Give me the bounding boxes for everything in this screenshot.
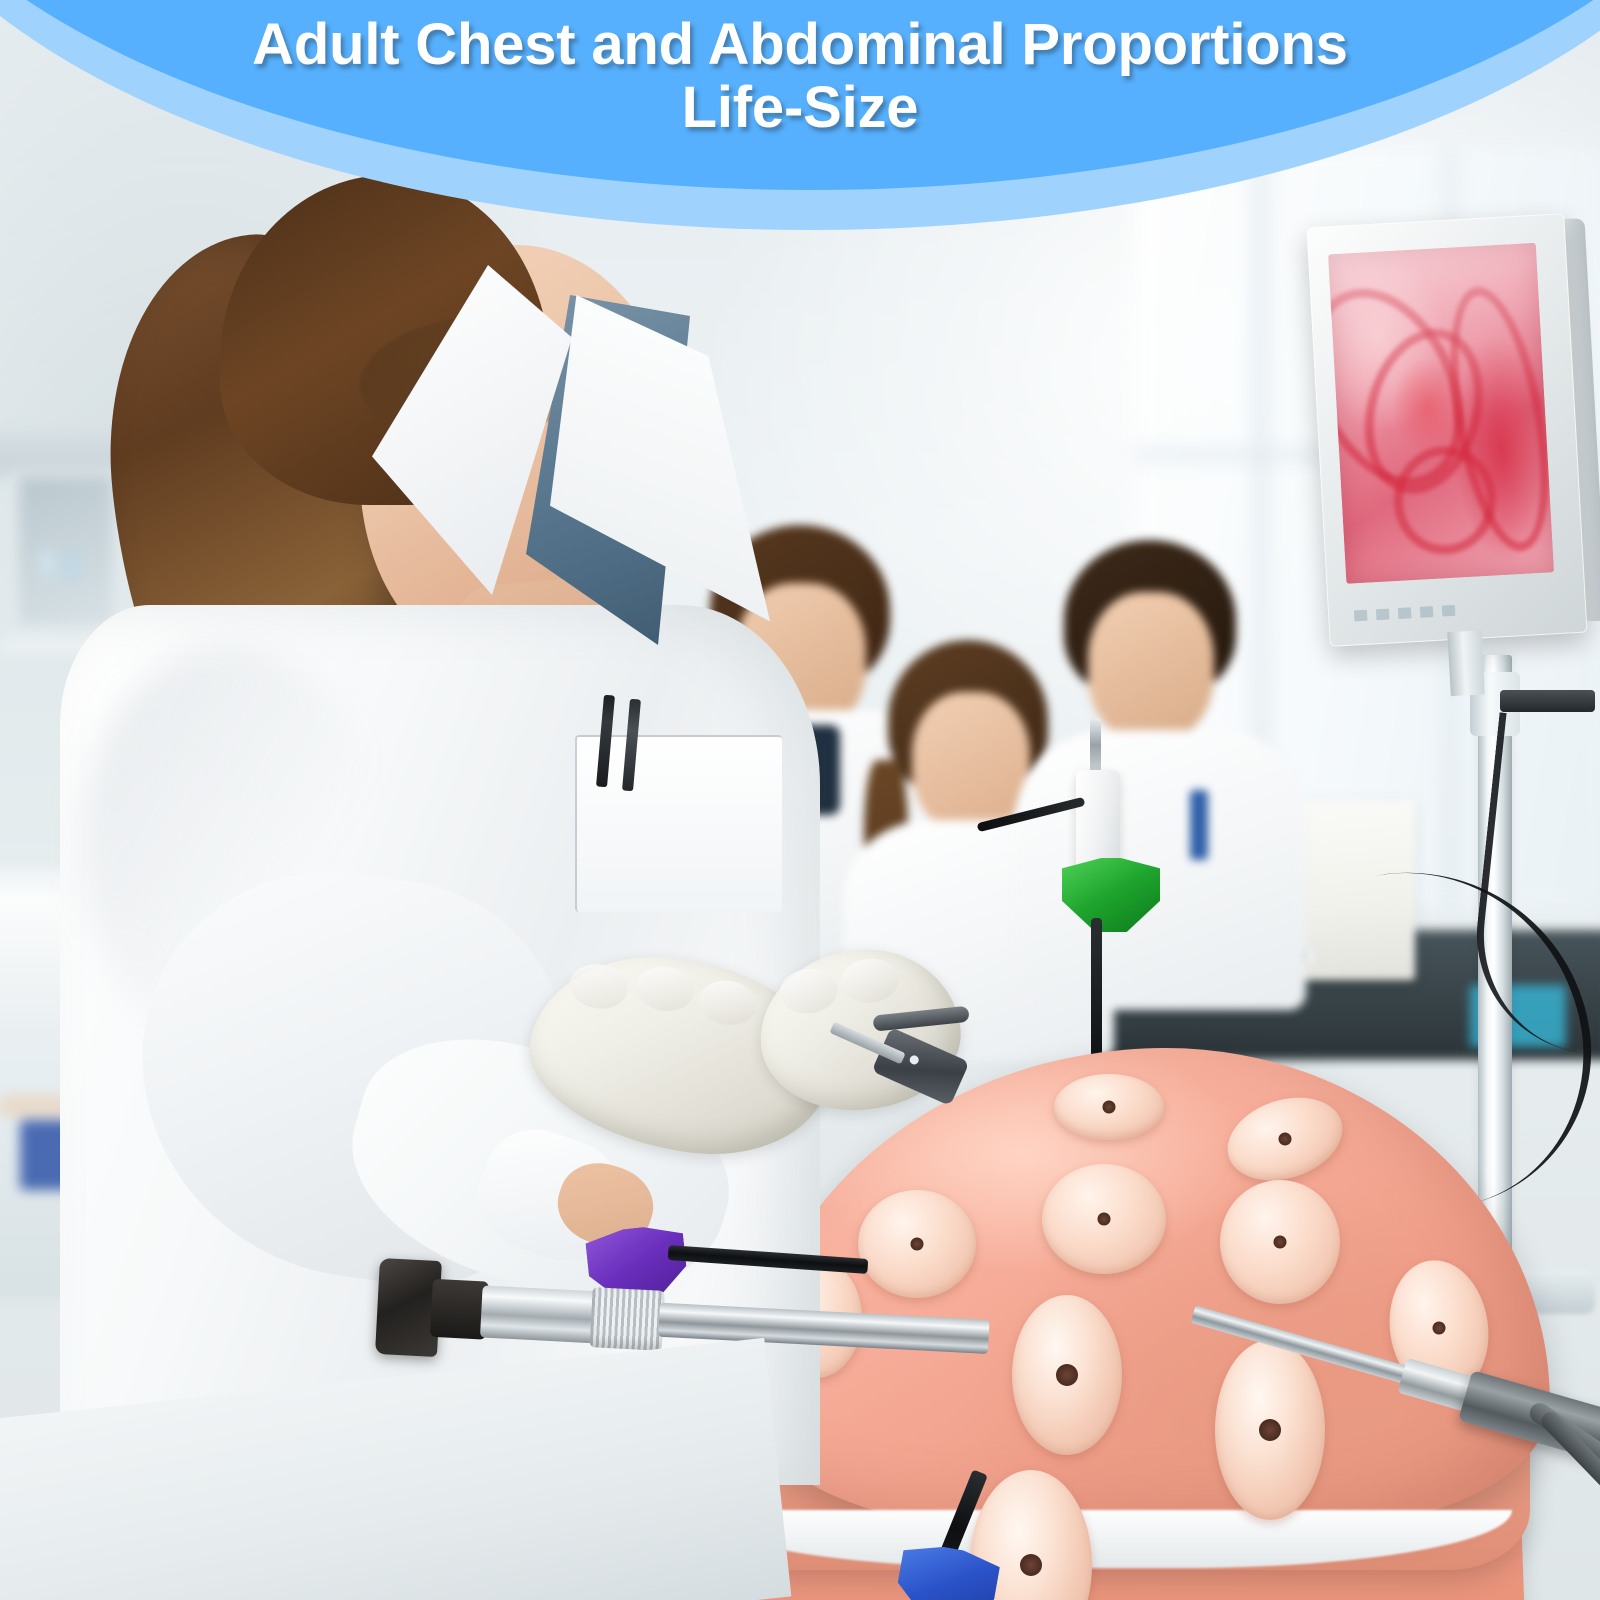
trainer-port [1012,1295,1122,1455]
endoscopy-display-monitor [1306,213,1587,647]
student-observer-right [1040,540,1270,1010]
pole-bracket-arm [1500,690,1595,712]
endoscope-knurled-grip [590,1287,665,1351]
trocar-metal-tip [1090,718,1101,778]
photo-scene [0,0,1600,1600]
trainer-port [1215,1340,1325,1520]
product-image-canvas: Adult Chest and Abdominal Proportions Li… [0,0,1600,1600]
trainer-port [1054,1074,1164,1140]
endoscope-barrel [480,1285,603,1343]
trainer-port [1042,1164,1166,1274]
trainer-port [1220,1180,1340,1304]
trainer-port [858,1190,976,1298]
